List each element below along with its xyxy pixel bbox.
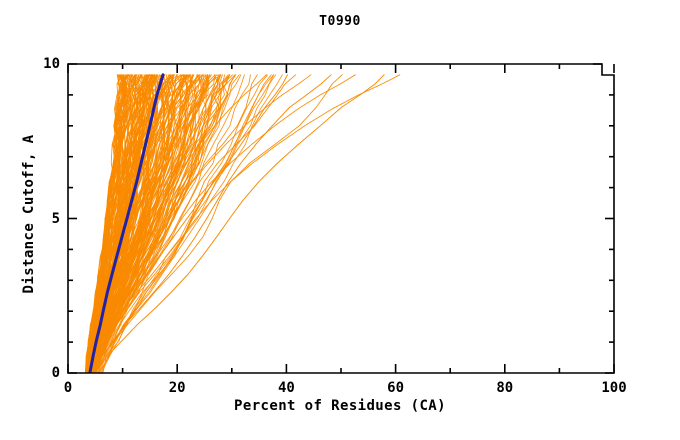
x-tick-label: 100 xyxy=(601,380,626,396)
y-tick-label: 10 xyxy=(40,56,60,72)
x-tick-label: 40 xyxy=(278,380,295,396)
canvas-background xyxy=(0,0,680,440)
plot-canvas xyxy=(0,0,680,440)
page-title: T0990 xyxy=(0,14,680,29)
x-tick-label: 20 xyxy=(169,380,186,396)
y-tick-label: 0 xyxy=(40,365,60,381)
plot-figure: T0990 Percent of Residues (CA) Distance … xyxy=(0,0,680,440)
y-axis-label: Distance Cutoff, A xyxy=(21,89,37,339)
y-tick-label: 5 xyxy=(40,211,60,227)
x-tick-label: 80 xyxy=(496,380,513,396)
x-tick-label: 0 xyxy=(64,380,72,396)
x-tick-label: 60 xyxy=(387,380,404,396)
x-axis-label: Percent of Residues (CA) xyxy=(0,398,680,414)
